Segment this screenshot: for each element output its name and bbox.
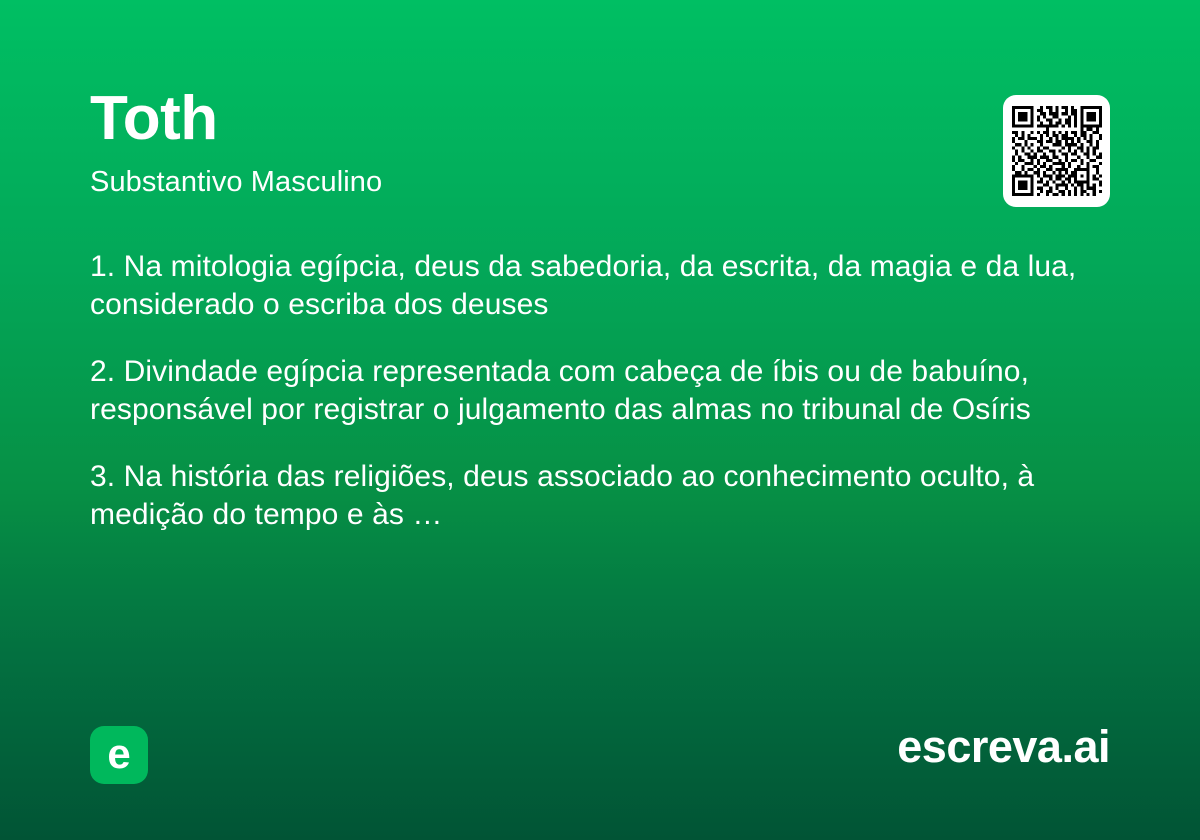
logo-letter: e xyxy=(107,733,130,775)
escreva-logo-icon: e xyxy=(90,726,148,784)
definition-item: 2. Divindade egípcia representada com ca… xyxy=(90,353,1095,429)
qr-code-icon xyxy=(1012,106,1102,196)
definition-card: Toth Substantivo Masculino xyxy=(0,0,1200,840)
definition-item: 1. Na mitologia egípcia, deus da sabedor… xyxy=(90,248,1095,324)
card-header: Toth Substantivo Masculino xyxy=(90,88,1110,199)
definitions-list: 1. Na mitologia egípcia, deus da sabedor… xyxy=(90,248,1095,534)
definition-item: 3. Na história das religiões, deus assoc… xyxy=(90,458,1095,534)
word-class-label: Substantivo Masculino xyxy=(90,167,1110,199)
qr-code-card[interactable] xyxy=(1003,95,1110,207)
page-title: Toth xyxy=(90,88,1110,150)
brand-wordmark: escreva.ai xyxy=(897,722,1110,772)
